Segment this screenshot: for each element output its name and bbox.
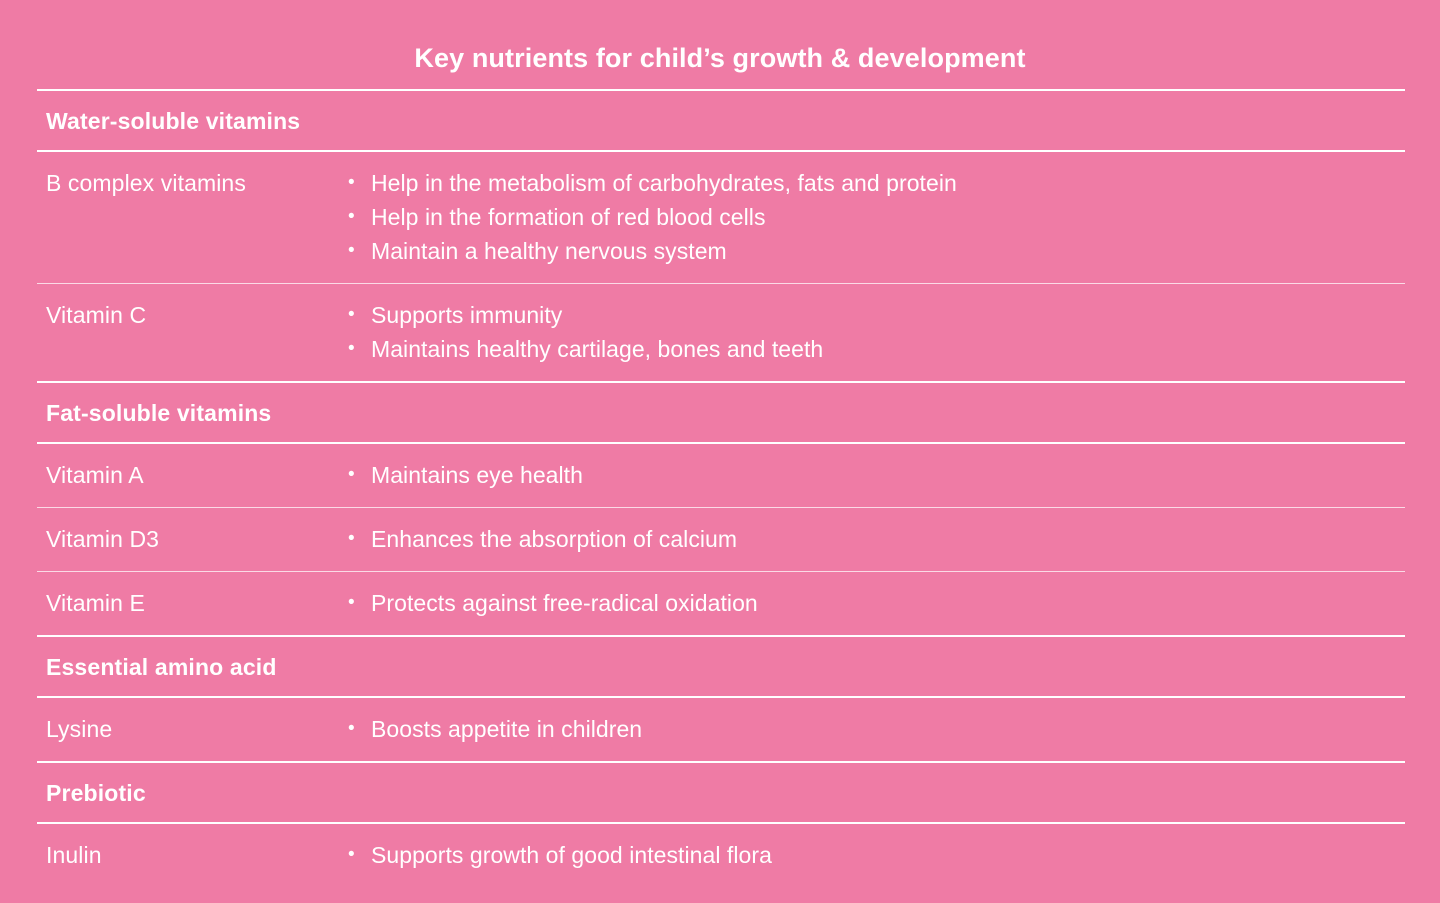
benefit-text: Boosts appetite in children <box>371 716 642 742</box>
table-row: Lysine•Boosts appetite in children <box>37 698 1405 761</box>
benefit-list: •Supports immunity•Maintains healthy car… <box>346 298 1405 366</box>
benefit-text: Protects against free-radical oxidation <box>371 590 758 616</box>
benefit-list-item: •Supports immunity <box>346 298 1405 332</box>
section-header-row: Prebiotic <box>37 763 1405 822</box>
benefit-list: •Boosts appetite in children <box>346 712 1405 746</box>
bullet-icon: • <box>348 522 355 556</box>
nutrient-benefits: •Enhances the absorption of calcium <box>346 522 1405 556</box>
bullet-icon: • <box>348 166 355 200</box>
benefit-list-item: •Maintains eye health <box>346 458 1405 492</box>
nutrient-name: B complex vitamins <box>37 166 346 200</box>
section-header-label: Water-soluble vitamins <box>37 91 1405 150</box>
benefit-list: •Maintains eye health <box>346 458 1405 492</box>
table-row: Vitamin C•Supports immunity•Maintains he… <box>37 284 1405 381</box>
table-row: Inulin•Supports growth of good intestina… <box>37 824 1405 887</box>
table-row: Vitamin A•Maintains eye health <box>37 444 1405 507</box>
benefit-text: Enhances the absorption of calcium <box>371 526 737 552</box>
nutrient-name: Vitamin D3 <box>37 522 346 556</box>
page-title: Key nutrients for child’s growth & devel… <box>0 41 1440 75</box>
benefit-text: Maintains healthy cartilage, bones and t… <box>371 336 823 362</box>
benefit-list: •Help in the metabolism of carbohydrates… <box>346 166 1405 268</box>
benefit-list: •Supports growth of good intestinal flor… <box>346 838 1405 872</box>
nutrient-benefits: •Boosts appetite in children <box>346 712 1405 746</box>
bullet-icon: • <box>348 586 355 620</box>
nutrient-name: Inulin <box>37 838 346 872</box>
benefit-text: Help in the formation of red blood cells <box>371 204 766 230</box>
nutrient-name: Vitamin C <box>37 298 346 332</box>
nutrient-benefits: •Supports growth of good intestinal flor… <box>346 838 1405 872</box>
nutrients-table-page: Key nutrients for child’s growth & devel… <box>0 0 1440 903</box>
table-row: Vitamin D3•Enhances the absorption of ca… <box>37 508 1405 571</box>
nutrient-benefits: •Help in the metabolism of carbohydrates… <box>346 166 1405 268</box>
nutrient-name: Lysine <box>37 712 346 746</box>
benefit-text: Maintains eye health <box>371 462 583 488</box>
benefit-text: Supports growth of good intestinal flora <box>371 842 772 868</box>
bullet-icon: • <box>348 234 355 268</box>
nutrient-name: Vitamin E <box>37 586 346 620</box>
benefit-list-item: •Supports growth of good intestinal flor… <box>346 838 1405 872</box>
benefit-list: •Enhances the absorption of calcium <box>346 522 1405 556</box>
benefit-list-item: •Help in the formation of red blood cell… <box>346 200 1405 234</box>
benefit-text: Maintain a healthy nervous system <box>371 238 727 264</box>
section-header-row: Fat-soluble vitamins <box>37 383 1405 442</box>
benefit-list: •Protects against free-radical oxidation <box>346 586 1405 620</box>
bullet-icon: • <box>348 838 355 872</box>
nutrient-benefits: •Protects against free-radical oxidation <box>346 586 1405 620</box>
bullet-icon: • <box>348 712 355 746</box>
benefit-list-item: •Help in the metabolism of carbohydrates… <box>346 166 1405 200</box>
benefit-list-item: •Protects against free-radical oxidation <box>346 586 1405 620</box>
table-row: B complex vitamins•Help in the metabolis… <box>37 152 1405 283</box>
table-row: Vitamin E•Protects against free-radical … <box>37 572 1405 635</box>
section-header-label: Essential amino acid <box>37 637 1405 696</box>
benefit-list-item: •Maintains healthy cartilage, bones and … <box>346 332 1405 366</box>
section-header-row: Essential amino acid <box>37 637 1405 696</box>
bullet-icon: • <box>348 298 355 332</box>
benefit-list-item: •Maintain a healthy nervous system <box>346 234 1405 268</box>
nutrient-benefits: •Maintains eye health <box>346 458 1405 492</box>
nutrient-name: Vitamin A <box>37 458 346 492</box>
bullet-icon: • <box>348 200 355 234</box>
nutrients-table: Water-soluble vitaminsB complex vitamins… <box>37 89 1405 887</box>
benefit-text: Supports immunity <box>371 302 562 328</box>
nutrient-benefits: •Supports immunity•Maintains healthy car… <box>346 298 1405 366</box>
benefit-list-item: •Boosts appetite in children <box>346 712 1405 746</box>
section-header-label: Prebiotic <box>37 763 1405 822</box>
section-header-row: Water-soluble vitamins <box>37 91 1405 150</box>
benefit-text: Help in the metabolism of carbohydrates,… <box>371 170 957 196</box>
bullet-icon: • <box>348 332 355 366</box>
bullet-icon: • <box>348 458 355 492</box>
benefit-list-item: •Enhances the absorption of calcium <box>346 522 1405 556</box>
section-header-label: Fat-soluble vitamins <box>37 383 1405 442</box>
